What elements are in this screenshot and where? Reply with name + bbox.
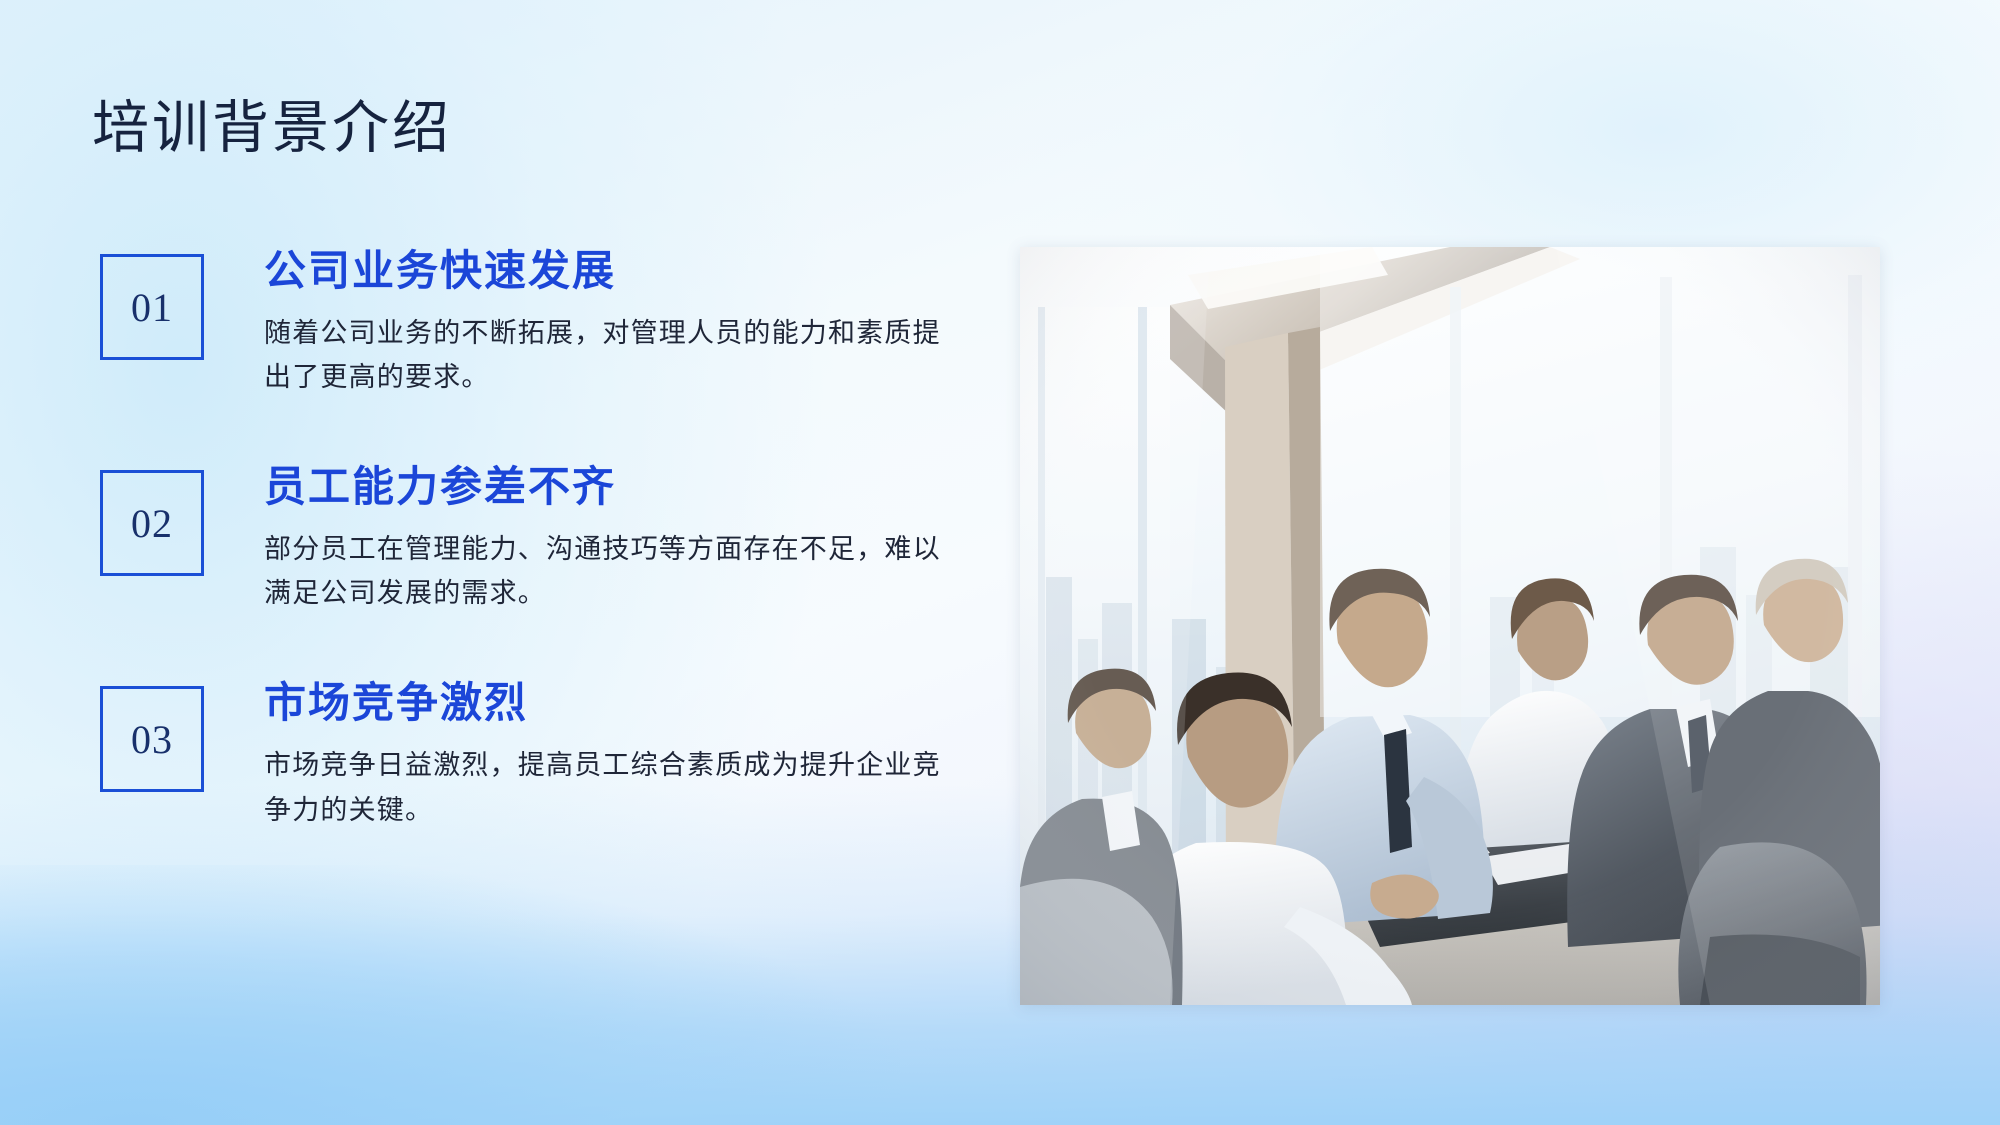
item-description: 部分员工在管理能力、沟通技巧等方面存在不足，难以满足公司发展的需求。 (264, 527, 944, 617)
item-body: 市场竞争激烈 市场竞争日益激烈，提高员工综合素质成为提升企业竞争力的关键。 (264, 678, 944, 832)
background-points-list: 01 公司业务快速发展 随着公司业务的不断拓展，对管理人员的能力和素质提出了更高… (100, 246, 960, 832)
list-item-03: 03 市场竞争激烈 市场竞争日益激烈，提高员工综合素质成为提升企业竞争力的关键。 (100, 678, 960, 832)
item-number-badge: 01 (100, 254, 204, 360)
item-number-badge: 02 (100, 470, 204, 576)
item-body: 员工能力参差不齐 部分员工在管理能力、沟通技巧等方面存在不足，难以满足公司发展的… (264, 462, 944, 616)
item-description: 随着公司业务的不断拓展，对管理人员的能力和素质提出了更高的要求。 (264, 311, 944, 401)
slide-root: 培训背景介绍 01 公司业务快速发展 随着公司业务的不断拓展，对管理人员的能力和… (0, 0, 2000, 1125)
meeting-photo (1020, 247, 1880, 1005)
list-item-02: 02 员工能力参差不齐 部分员工在管理能力、沟通技巧等方面存在不足，难以满足公司… (100, 462, 960, 616)
item-heading: 市场竞争激烈 (264, 678, 944, 731)
meeting-photo-illustration (1020, 247, 1880, 1005)
item-heading: 公司业务快速发展 (264, 246, 944, 299)
item-body: 公司业务快速发展 随着公司业务的不断拓展，对管理人员的能力和素质提出了更高的要求… (264, 246, 944, 400)
background-bottom-left-glow (0, 865, 900, 1125)
item-description: 市场竞争日益激烈，提高员工综合素质成为提升企业竞争力的关键。 (264, 743, 944, 833)
item-heading: 员工能力参差不齐 (264, 462, 944, 515)
item-number-badge: 03 (100, 686, 204, 792)
list-item-01: 01 公司业务快速发展 随着公司业务的不断拓展，对管理人员的能力和素质提出了更高… (100, 246, 960, 400)
page-title: 培训背景介绍 (92, 98, 452, 161)
